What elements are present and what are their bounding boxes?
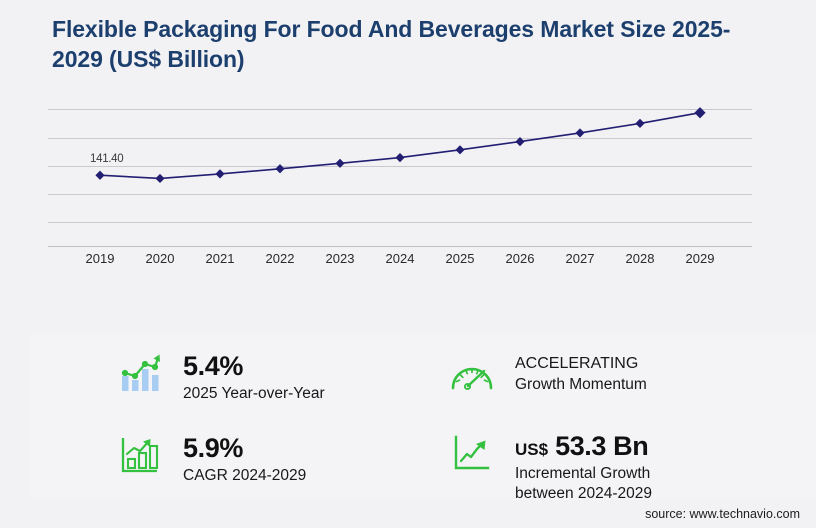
data-point-marker: [515, 137, 524, 146]
x-axis-tick-2026: 2026: [506, 251, 535, 266]
stat-caption-line2: between 2024-2029: [515, 484, 652, 504]
x-axis-tick-2020: 2020: [146, 251, 175, 266]
currency-prefix: US$: [515, 440, 548, 459]
stat-caption: 2025 Year-over-Year: [183, 384, 325, 404]
x-axis-tick-2029: 2029: [686, 251, 715, 266]
data-point-marker: [575, 128, 584, 137]
line-chart-arrow-icon: [449, 430, 495, 476]
stat-headline: ACCELERATING: [515, 353, 647, 374]
stat-value: 5.9%: [183, 433, 306, 463]
x-axis-tick-2025: 2025: [446, 251, 475, 266]
x-axis-tick-2021: 2021: [206, 251, 235, 266]
stat-incremental-growth: US$53.3 Bn Incremental Growth between 20…: [449, 430, 652, 505]
x-axis-tick-2019: 2019: [86, 251, 115, 266]
data-point-marker: [455, 145, 464, 154]
speedometer-icon: [449, 352, 495, 398]
source-note: source: www.technavio.com: [645, 507, 800, 521]
bar-chart-growth-icon: [117, 432, 163, 478]
page-title: Flexible Packaging For Food And Beverage…: [52, 14, 752, 75]
data-point-marker: [275, 164, 284, 173]
series-line: [48, 96, 752, 248]
stat-caption: Growth Momentum: [515, 375, 647, 395]
data-point-marker: [395, 153, 404, 162]
x-axis-tick-2027: 2027: [566, 251, 595, 266]
data-point-marker: [635, 119, 644, 128]
bar-chart-trend-up-icon: [117, 350, 163, 396]
data-point-marker: [694, 107, 705, 118]
stats-panel: 5.4% 2025 Year-over-Year 5.9% CAGR 2024-…: [31, 332, 816, 500]
stat-growth-momentum: ACCELERATING Growth Momentum: [449, 352, 647, 398]
x-axis-tick-2028: 2028: [626, 251, 655, 266]
x-axis-tick-2023: 2023: [326, 251, 355, 266]
stat-caption: CAGR 2024-2029: [183, 466, 306, 486]
stat-year-over-year: 5.4% 2025 Year-over-Year: [117, 350, 325, 404]
stat-cagr: 5.9% CAGR 2024-2029: [117, 432, 306, 486]
x-axis-labels: 2019202020212022202320242025202620272028…: [48, 251, 752, 273]
stat-value: US$53.3 Bn: [515, 431, 652, 461]
x-axis-tick-2022: 2022: [266, 251, 295, 266]
data-point-marker: [335, 159, 344, 168]
line-chart: 141.40 201920202021202220232024202520262…: [0, 96, 816, 286]
stat-amount: 53.3 Bn: [555, 431, 648, 461]
x-axis-tick-2024: 2024: [386, 251, 415, 266]
data-point-marker: [155, 174, 164, 183]
data-point-marker: [215, 169, 224, 178]
stat-caption-line1: Incremental Growth: [515, 464, 652, 484]
data-point-marker: [95, 171, 104, 180]
stat-value: 5.4%: [183, 351, 325, 381]
